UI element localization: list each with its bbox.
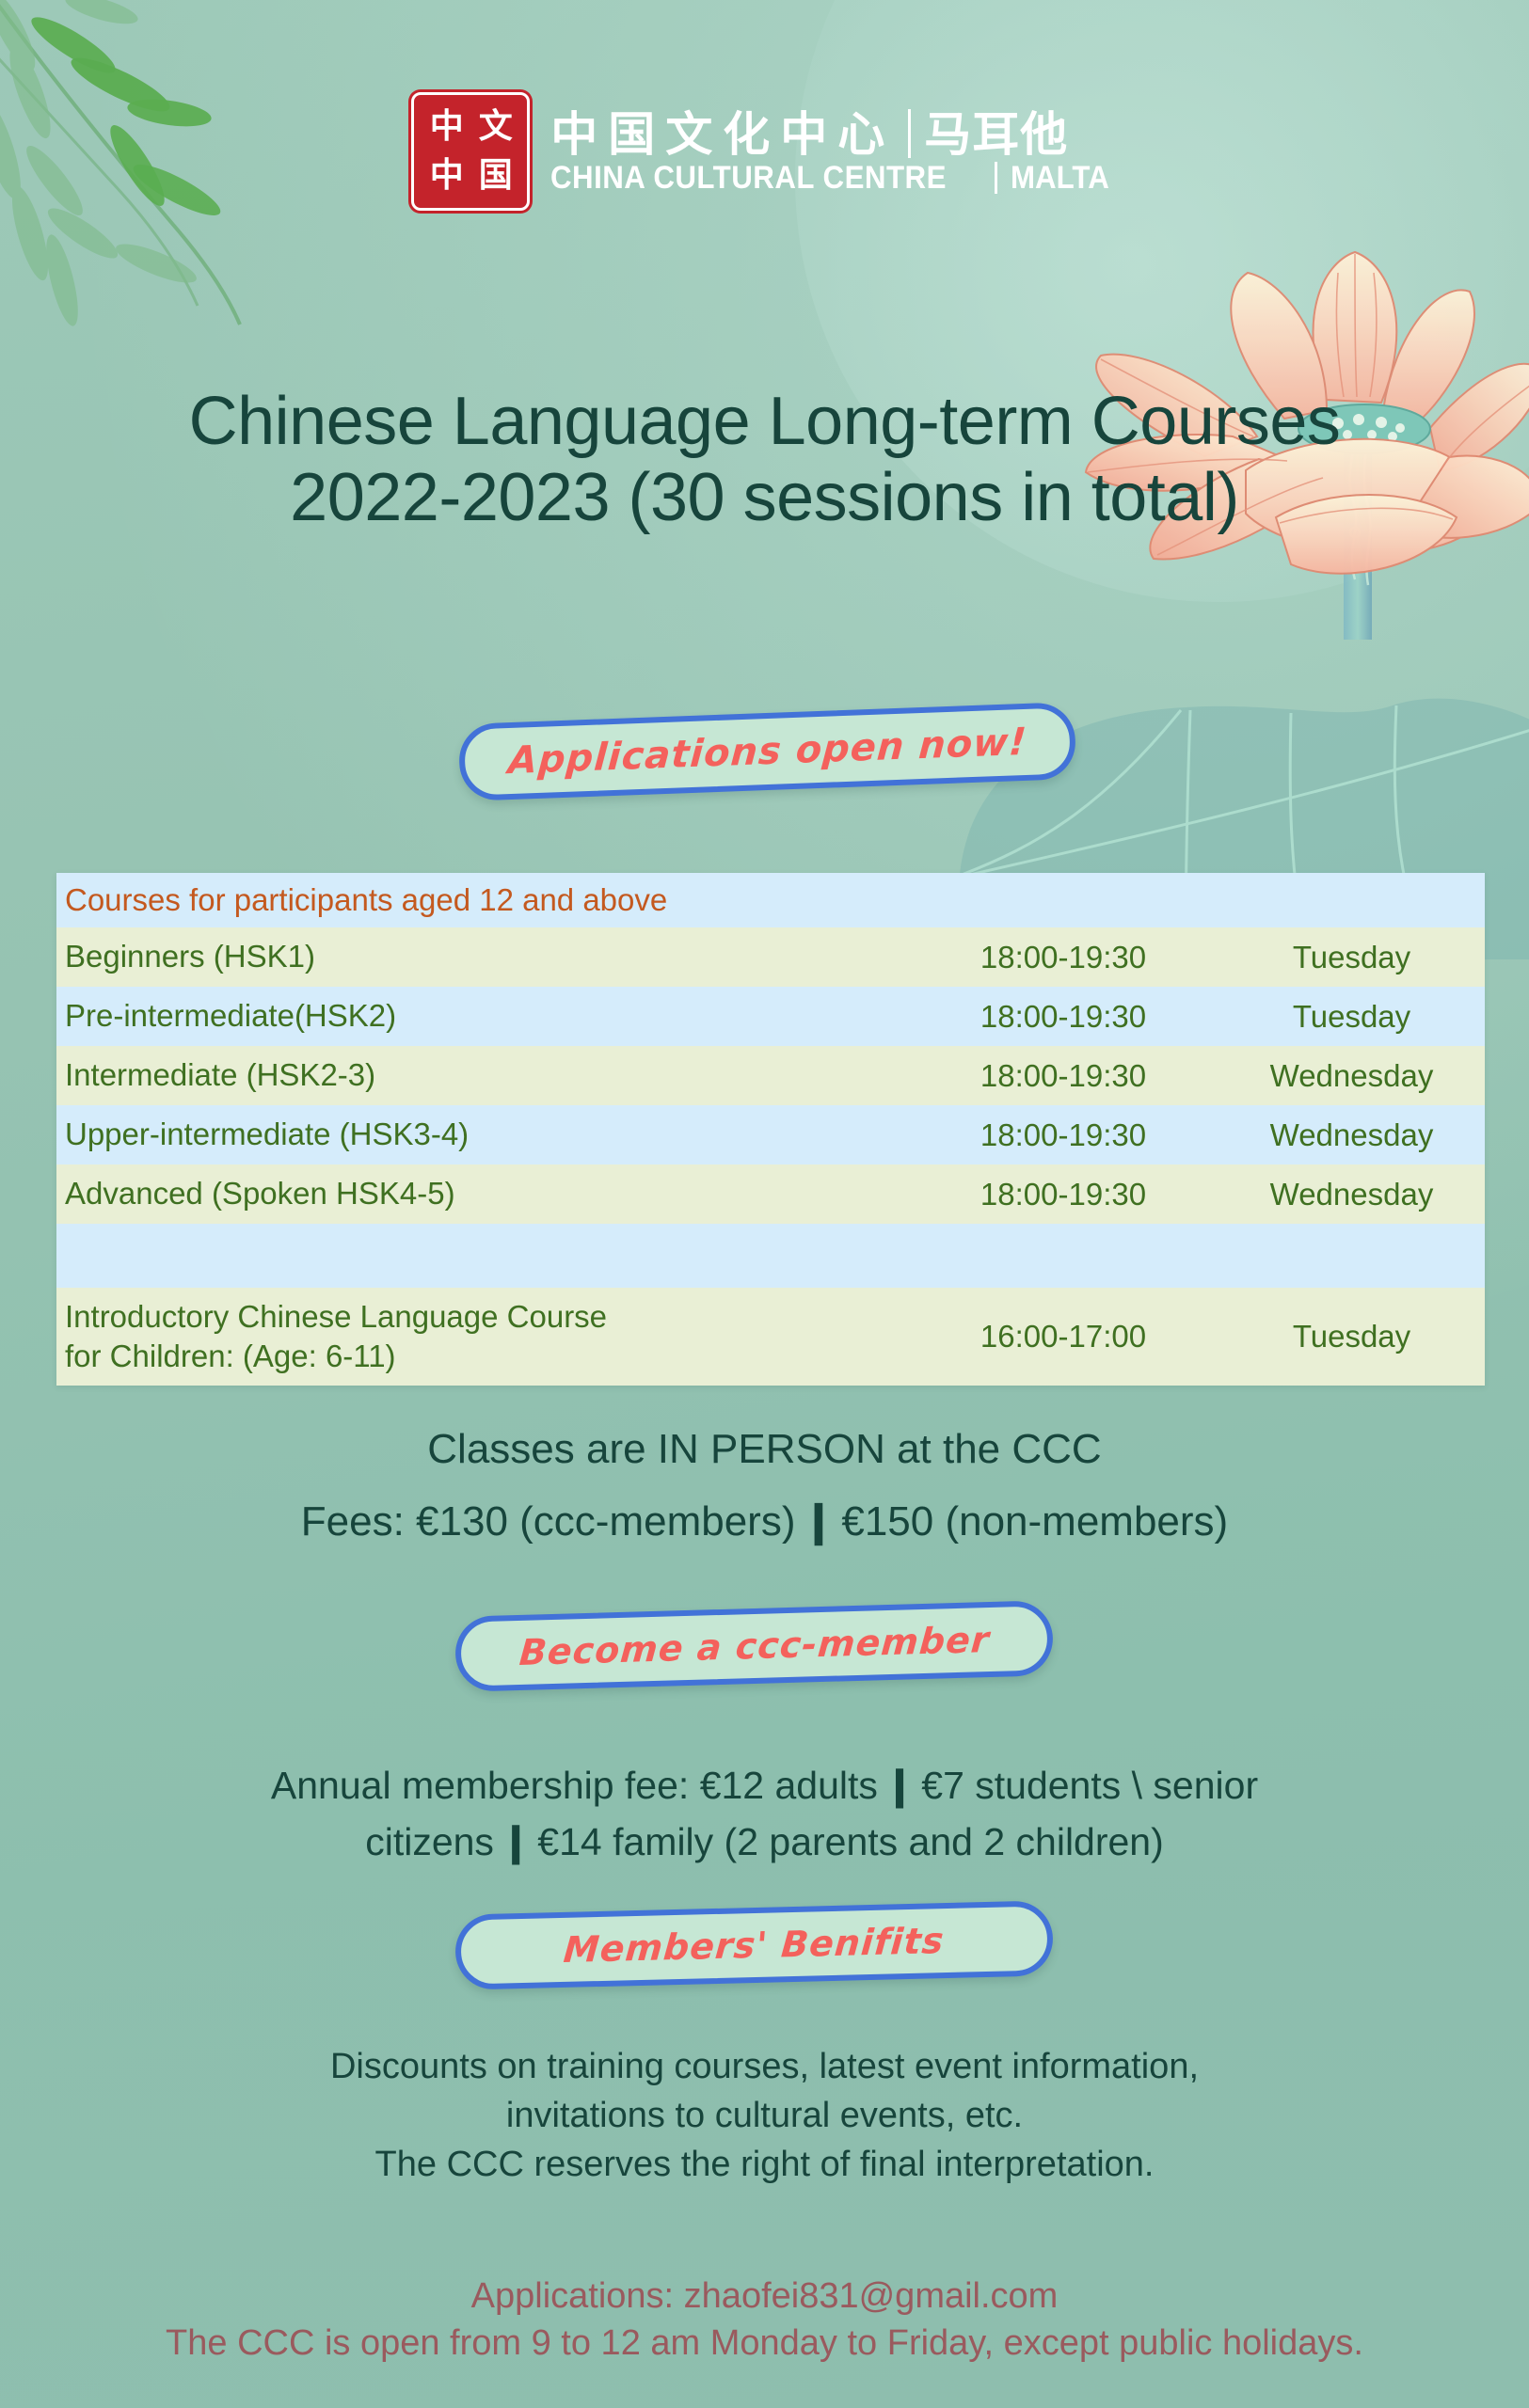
benefits-line-3: The CCC reserves the right of final inte… bbox=[0, 2145, 1529, 2185]
annual-fee-family: €14 family (2 parents and 2 children) bbox=[537, 1820, 1163, 1863]
applications-open-badge: Applications open now! bbox=[458, 702, 1077, 801]
logo-bar: 中 文 中 国 中国文化中心 马耳他 CHINA CULTURAL CENTRE… bbox=[0, 92, 1529, 211]
annual-fee-line1: Annual membership fee: €12 adults❙€7 stu… bbox=[0, 1763, 1529, 1808]
opening-hours: The CCC is open from 9 to 12 am Monday t… bbox=[0, 2323, 1529, 2364]
become-member-badge-label: Become a ccc-member bbox=[518, 1619, 991, 1673]
wordmark-chinese-name: 中国文化中心 bbox=[550, 111, 895, 158]
course-name: Introductory Chinese Language Course for… bbox=[56, 1297, 908, 1376]
course-time: 18:00-19:30 bbox=[908, 1177, 1218, 1212]
course-day: Tuesday bbox=[1218, 940, 1485, 975]
become-member-badge: Become a ccc-member bbox=[454, 1600, 1054, 1692]
fees-separator: ❙ bbox=[795, 1498, 841, 1545]
course-name: Beginners (HSK1) bbox=[56, 938, 908, 975]
course-schedule-table: Courses for participants aged 12 and abo… bbox=[56, 873, 1485, 1386]
course-day: Wednesday bbox=[1218, 1058, 1485, 1094]
wordmark: 中国文化中心 马耳他 CHINA CULTURAL CENTRE MALTA bbox=[550, 109, 1117, 194]
annual-fee-line2: citizens❙€14 family (2 parents and 2 chi… bbox=[0, 1819, 1529, 1864]
table-row: Pre-intermediate(HSK2) 18:00-19:30 Tuesd… bbox=[56, 987, 1485, 1046]
benefits-line-2: invitations to cultural events, etc. bbox=[0, 2096, 1529, 2136]
wordmark-chinese-region: 马耳他 bbox=[924, 111, 1068, 158]
course-day: Tuesday bbox=[1218, 1319, 1485, 1354]
course-time: 18:00-19:30 bbox=[908, 999, 1218, 1035]
seal-char-4: 国 bbox=[479, 159, 512, 193]
table-spacer-row bbox=[56, 1224, 1485, 1288]
annual-fee-seniors: citizens bbox=[365, 1820, 494, 1863]
course-name: Intermediate (HSK2-3) bbox=[56, 1056, 908, 1094]
page-title-line2: 2022-2023 (30 sessions in total) bbox=[0, 460, 1529, 536]
course-day: Wednesday bbox=[1218, 1177, 1485, 1212]
table-row-children-course: Introductory Chinese Language Course for… bbox=[56, 1288, 1485, 1386]
wordmark-divider-top bbox=[908, 109, 911, 158]
members-benefits-badge-label: Members' Benifits bbox=[563, 1920, 947, 1971]
annual-fee-students: €7 students \ senior bbox=[921, 1764, 1258, 1807]
annual-fee-separator-2: ❙ bbox=[494, 1820, 537, 1863]
page-title-line1: Chinese Language Long-term Courses bbox=[0, 384, 1529, 460]
annual-fee-separator-1: ❙ bbox=[878, 1764, 921, 1807]
course-name-line2: for Children: (Age: 6-11) bbox=[65, 1337, 908, 1376]
fees-members: Fees: €130 (ccc-members) bbox=[301, 1498, 796, 1545]
poster-canvas: 中 文 中 国 中国文化中心 马耳他 CHINA CULTURAL CENTRE… bbox=[0, 0, 1529, 2408]
annual-fee-adults: Annual membership fee: €12 adults bbox=[271, 1764, 878, 1807]
in-person-note: Classes are IN PERSON at the CCC bbox=[0, 1426, 1529, 1473]
course-time: 18:00-19:30 bbox=[908, 940, 1218, 975]
wordmark-divider-bottom bbox=[995, 162, 997, 194]
page-title: Chinese Language Long-term Courses 2022-… bbox=[0, 384, 1529, 535]
seal-char-3: 中 bbox=[430, 159, 463, 193]
table-row: Advanced (Spoken HSK4-5) 18:00-19:30 Wed… bbox=[56, 1164, 1485, 1224]
course-name: Advanced (Spoken HSK4-5) bbox=[56, 1175, 908, 1212]
course-time: 18:00-19:30 bbox=[908, 1117, 1218, 1153]
fees-non-members: €150 (non-members) bbox=[841, 1498, 1228, 1545]
course-name-line1: Introductory Chinese Language Course bbox=[65, 1297, 908, 1337]
course-name: Pre-intermediate(HSK2) bbox=[56, 997, 908, 1035]
members-benefits-badge: Members' Benifits bbox=[454, 1900, 1054, 1989]
applications-email[interactable]: Applications: zhaofei831@gmail.com bbox=[0, 2276, 1529, 2317]
applications-open-badge-label: Applications open now! bbox=[506, 721, 1027, 783]
table-row: Beginners (HSK1) 18:00-19:30 Tuesday bbox=[56, 927, 1485, 987]
table-row: Intermediate (HSK2-3) 18:00-19:30 Wednes… bbox=[56, 1046, 1485, 1105]
course-time: 18:00-19:30 bbox=[908, 1058, 1218, 1094]
benefits-line-1: Discounts on training courses, latest ev… bbox=[0, 2047, 1529, 2087]
wordmark-english-name: CHINA CULTURAL CENTRE bbox=[550, 162, 947, 194]
china-cultural-centre-seal-icon: 中 文 中 国 bbox=[411, 92, 530, 211]
seal-char-1: 中 bbox=[430, 110, 463, 144]
course-day: Tuesday bbox=[1218, 999, 1485, 1035]
course-time: 16:00-17:00 bbox=[908, 1319, 1218, 1354]
table-header-label: Courses for participants aged 12 and abo… bbox=[56, 881, 908, 919]
course-day: Wednesday bbox=[1218, 1117, 1485, 1153]
fees-line: Fees: €130 (ccc-members)❙€150 (non-membe… bbox=[0, 1497, 1529, 1545]
table-row: Upper-intermediate (HSK3-4) 18:00-19:30 … bbox=[56, 1105, 1485, 1164]
seal-char-2: 文 bbox=[479, 110, 512, 144]
wordmark-english-region: MALTA bbox=[1011, 162, 1109, 194]
course-name: Upper-intermediate (HSK3-4) bbox=[56, 1116, 908, 1153]
table-header-row: Courses for participants aged 12 and abo… bbox=[56, 873, 1485, 927]
